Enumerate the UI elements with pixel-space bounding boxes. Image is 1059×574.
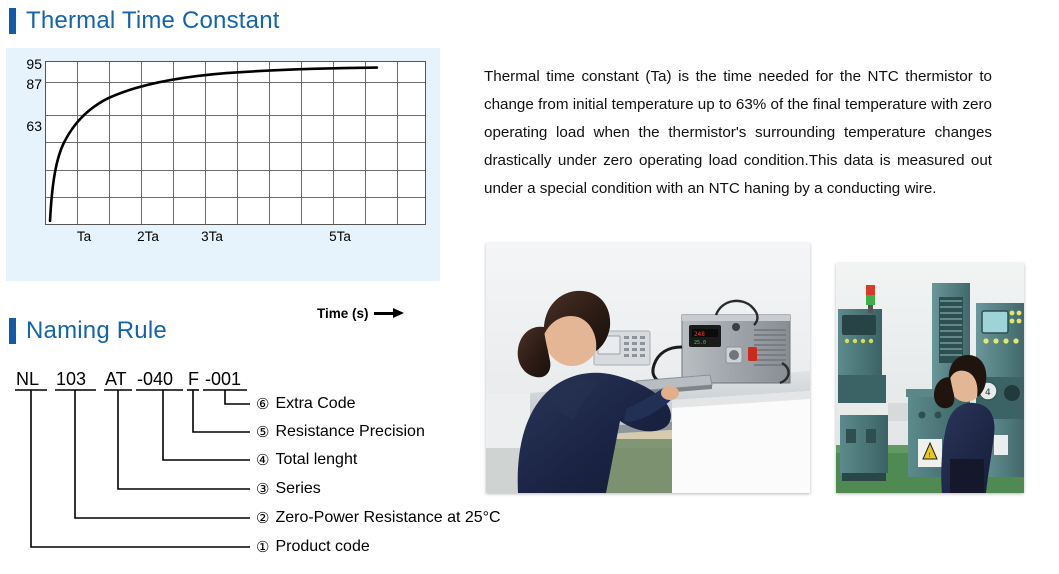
legend-label-total-lenght: Total lenght — [275, 452, 357, 468]
x-axis-label: Time (s) — [317, 306, 369, 321]
section-heading-thermal: Thermal Time Constant — [9, 8, 280, 34]
svg-text:25.0: 25.0 — [694, 340, 706, 346]
thermal-time-constant-description: Thermal time constant (Ta) is the time n… — [484, 63, 992, 203]
naming-legend-item-1: ① Product code — [256, 539, 370, 555]
legend-number-4: ④ — [256, 453, 269, 468]
naming-rule-diagram: NL 103 AT -040 F -001 ⑥ Ext — [0, 362, 520, 567]
svg-text:!: ! — [928, 452, 930, 459]
y-tick-87: 87 — [26, 77, 42, 91]
heading-accent-bar — [9, 8, 16, 34]
chart-x-axis-caption: Time (s) — [317, 306, 404, 321]
naming-legend-item-2: ② Zero-Power Resistance at 25°C — [256, 510, 501, 526]
naming-legend-item-6: ⑥ Extra Code — [256, 396, 356, 412]
photo-lab-measurement-image: 248 25.0 — [486, 243, 810, 493]
y-tick-95: 95 — [26, 57, 42, 71]
naming-legend-item-3: ③ Series — [256, 481, 321, 497]
x-tick-ta: Ta — [77, 230, 91, 244]
legend-label-zero-power-resistance: Zero-Power Resistance at 25°C — [275, 510, 500, 526]
y-tick-63: 63 — [26, 119, 42, 133]
x-tick-3ta: 3Ta — [201, 230, 223, 244]
heading-accent-bar — [9, 318, 16, 344]
section-heading-naming: Naming Rule — [9, 318, 167, 344]
legend-label-series: Series — [275, 481, 320, 497]
chart-curve-series — [46, 62, 425, 224]
chart-y-axis-labels: 95 87 63 — [6, 48, 42, 238]
legend-label-product-code: Product code — [275, 539, 369, 555]
photo-production-floor-image: 4 ! — [836, 263, 1024, 493]
legend-label-resistance-precision: Resistance Precision — [275, 424, 424, 440]
legend-number-1: ① — [256, 540, 269, 555]
svg-text:248: 248 — [694, 331, 705, 338]
naming-legend-item-4: ④ Total lenght — [256, 452, 357, 468]
legend-number-5: ⑤ — [256, 425, 269, 440]
x-tick-2ta: 2Ta — [137, 230, 159, 244]
page-title: Thermal Time Constant — [26, 9, 280, 33]
legend-number-2: ② — [256, 511, 269, 526]
legend-number-6: ⑥ — [256, 397, 269, 412]
thermal-time-constant-chart: 95 87 63 Ta 2Ta 3Ta 5Ta Time (s) — [6, 48, 440, 281]
chart-plot-area — [45, 61, 426, 225]
x-tick-5ta: 5Ta — [329, 230, 351, 244]
legend-number-3: ③ — [256, 482, 269, 497]
photo-lab-measurement: 248 25.0 — [486, 243, 810, 493]
naming-legend-item-5: ⑤ Resistance Precision — [256, 424, 425, 440]
naming-rule-title: Naming Rule — [26, 319, 167, 343]
photo-production-floor: 4 ! — [836, 263, 1024, 493]
arrow-right-icon — [374, 308, 404, 319]
svg-text:4: 4 — [985, 388, 991, 398]
legend-label-extra-code: Extra Code — [275, 396, 355, 412]
